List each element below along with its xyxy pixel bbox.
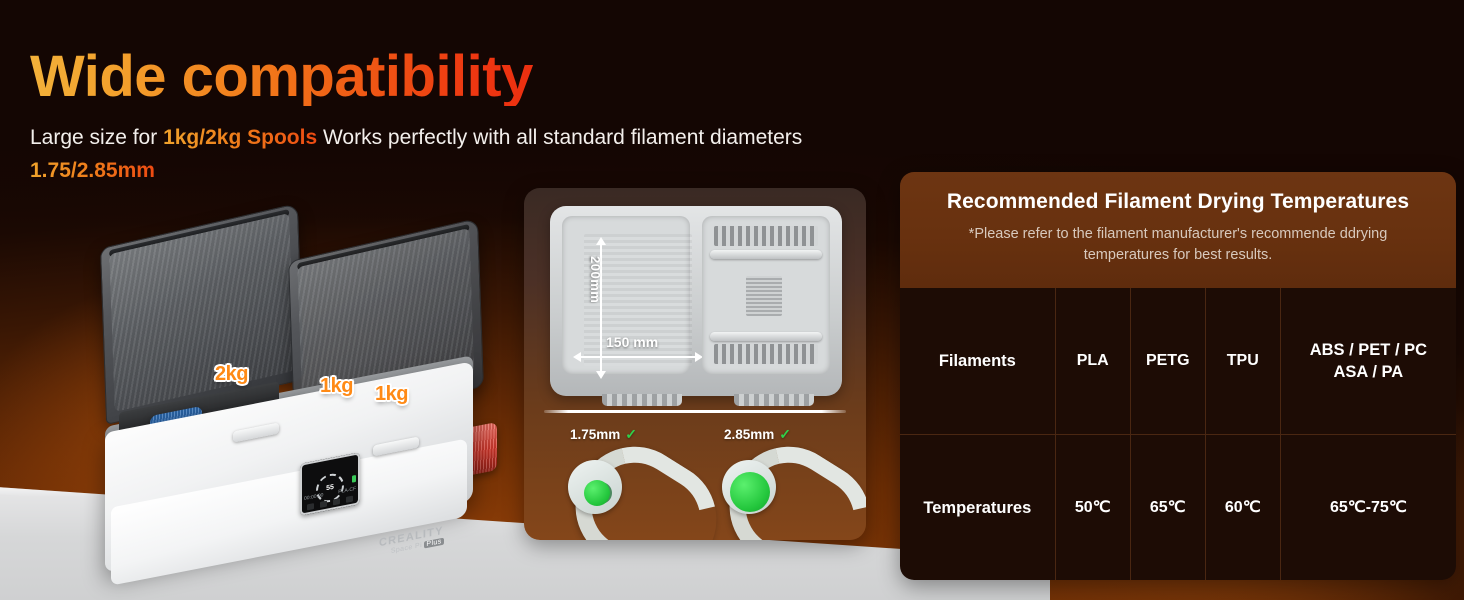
table-row: Temperatures 50℃ 65℃ 60℃ 65℃-75℃ <box>900 435 1456 580</box>
table-temp-petg: 65℃ <box>1131 435 1206 580</box>
badge-spool-1kg-b: 1kg <box>375 383 408 406</box>
table-col-tpu: TPU <box>1206 288 1281 434</box>
table-col-petg: PETG <box>1131 288 1206 434</box>
subheadline-diameters: 1.75/2.85mm <box>30 159 155 182</box>
tube-mouth-285 <box>722 460 776 514</box>
lcd-status-indicator <box>352 475 356 483</box>
badge-spool-2kg: 2kg <box>215 363 248 386</box>
temperature-table-panel: Recommended Filament Drying Temperatures… <box>900 172 1456 580</box>
product-photo: 55 00:00:00 PLA-CF CREALITY Space Pi Plu… <box>95 215 495 555</box>
spool-holder-bar-top <box>710 250 822 259</box>
table-temp-abs: 65℃-75℃ <box>1281 435 1456 580</box>
subheadline-part2: Works perfectly with all standard filame… <box>317 126 802 149</box>
lcd-settings-icon[interactable] <box>307 503 314 510</box>
filter-mesh-icon <box>746 276 782 316</box>
ptfe-tube-285 <box>722 454 838 526</box>
filament-285: 2.85mm✓ <box>704 426 854 536</box>
chamber-right-topview <box>702 216 830 374</box>
dryer-topview: 200mm 150 mm <box>550 206 842 396</box>
table-temp-pla: 50℃ <box>1056 435 1131 580</box>
table-col-pla: PLA <box>1056 288 1131 434</box>
filament-285-label: 2.85mm <box>724 427 774 442</box>
chamber-left-topview: 200mm 150 mm <box>562 216 690 374</box>
subheadline-spools: 1kg/2kg Spools <box>163 126 317 149</box>
table-temp-tpu: 60℃ <box>1206 435 1281 580</box>
table-col-abs-line2: ASA / PA <box>1334 363 1404 381</box>
table-col-abs: ABS / PET / PC ASA / PA <box>1281 288 1456 434</box>
dimension-height-label: 200mm <box>588 256 603 303</box>
promo-banner: Wide compatibility Large size for 1kg/2k… <box>0 0 1464 600</box>
width-arrow-icon <box>580 356 696 358</box>
table-body: Filaments PLA PETG TPU ABS / PET / PC AS… <box>900 288 1456 580</box>
badge-spool-1kg-a: 1kg <box>320 375 353 398</box>
dimension-width-label: 150 mm <box>606 334 658 350</box>
tube-mouth-175 <box>568 460 622 514</box>
page-title: Wide compatibility <box>30 48 533 106</box>
panel-divider <box>544 410 846 413</box>
lcd-temp-icon[interactable] <box>333 498 340 505</box>
filament-175: 1.75mm✓ <box>550 426 700 536</box>
filament-core-285 <box>730 472 770 512</box>
table-row: Filaments PLA PETG TPU ABS / PET / PC AS… <box>900 288 1456 435</box>
lcd-power-icon[interactable] <box>346 496 353 503</box>
table-col-abs-line1: ABS / PET / PC <box>1310 341 1427 359</box>
vent-top-icon <box>714 226 818 246</box>
table-title: Recommended Filament Drying Temperatures <box>900 190 1456 214</box>
subheadline: Large size for 1kg/2kg Spools Works perf… <box>30 122 910 187</box>
vent-bottom-icon <box>714 344 818 364</box>
table-row-header-filaments: Filaments <box>900 288 1056 434</box>
check-icon-285: ✓ <box>779 426 791 443</box>
filament-core-175 <box>584 480 610 506</box>
ptfe-tube-175 <box>568 454 684 526</box>
hinge-foot-right <box>734 394 814 406</box>
table-note: *Please refer to the filament manufactur… <box>900 224 1456 266</box>
filament-diameter-group: 1.75mm✓ 2.85mm✓ <box>524 426 866 536</box>
hinge-foot-left <box>602 394 682 406</box>
check-icon-175: ✓ <box>625 426 637 443</box>
table-header: Recommended Filament Drying Temperatures… <box>900 172 1456 288</box>
table-row-header-temperatures: Temperatures <box>900 435 1056 580</box>
filament-175-label: 1.75mm <box>570 427 620 442</box>
dimensions-panel: 200mm 150 mm 1.75mm✓ <box>524 188 866 540</box>
lcd-humidity-icon[interactable] <box>320 501 327 508</box>
subheadline-part1: Large size for <box>30 126 163 149</box>
spool-holder-bar-bottom <box>710 332 822 341</box>
